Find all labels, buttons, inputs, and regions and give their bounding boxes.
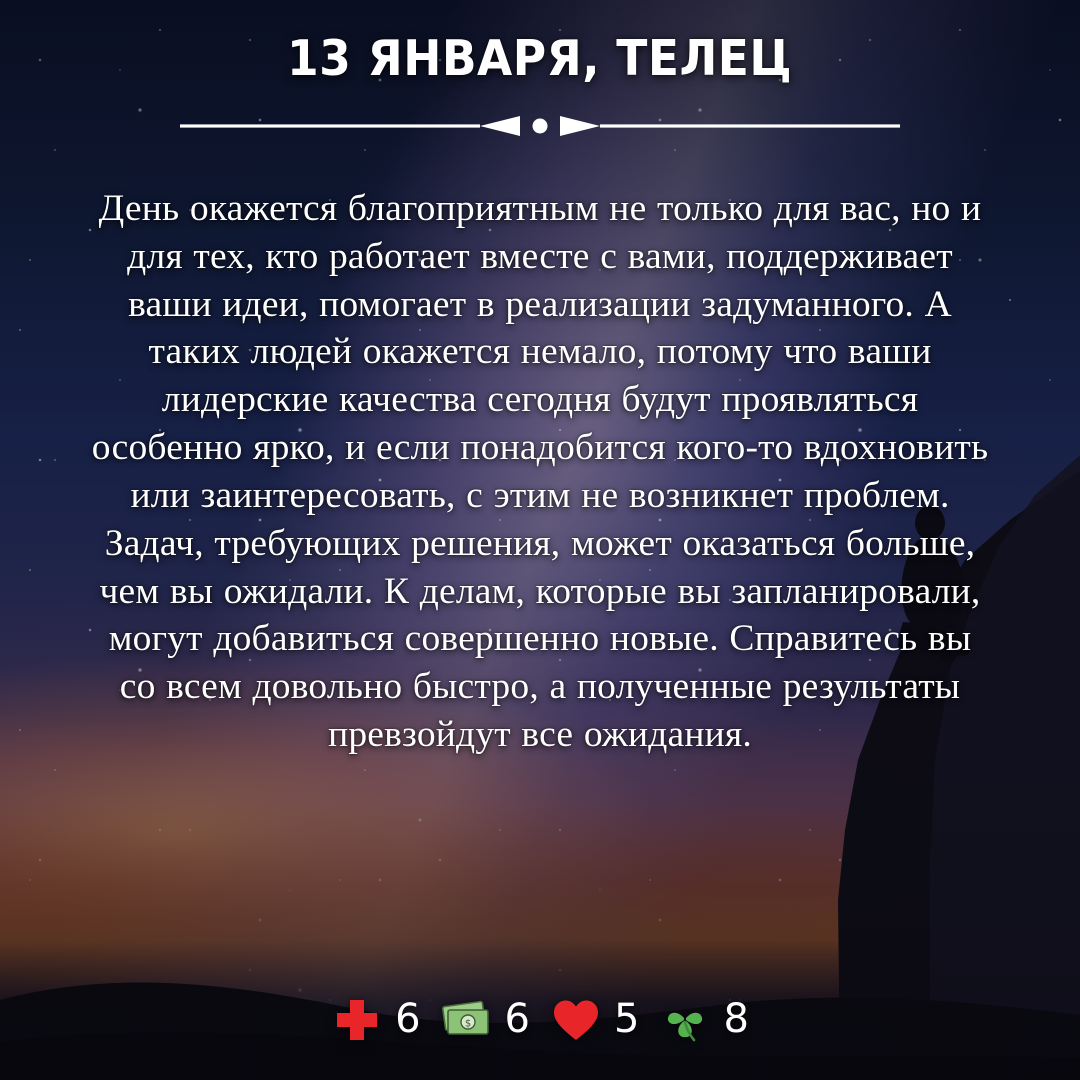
rating-health: 6 <box>331 994 420 1046</box>
ornamental-divider-icon <box>180 113 900 139</box>
four-leaf-clover-luck-icon <box>659 994 711 1046</box>
rating-health-value: 6 <box>395 999 420 1042</box>
rating-love: 5 <box>550 994 639 1046</box>
card-content: 13 ЯНВАРЯ, ТЕЛЕЦ День окажется благоприя… <box>0 0 1080 1080</box>
svg-text:$: $ <box>464 1019 470 1030</box>
rating-love-value: 5 <box>614 999 639 1042</box>
rating-luck-value: 8 <box>723 999 748 1042</box>
ratings-row: 6 $ 6 5 <box>0 994 1080 1046</box>
horoscope-text: День окажется благоприятным не только дл… <box>90 185 990 759</box>
rating-money: $ 6 <box>441 994 530 1046</box>
money-banknotes-icon: $ <box>441 994 493 1046</box>
page-title: 13 ЯНВАРЯ, ТЕЛЕЦ <box>287 30 792 87</box>
horoscope-card: 13 ЯНВАРЯ, ТЕЛЕЦ День окажется благоприя… <box>0 0 1080 1080</box>
red-cross-health-icon <box>331 994 383 1046</box>
rating-luck: 8 <box>659 994 748 1046</box>
rating-money-value: 6 <box>505 999 530 1042</box>
red-heart-love-icon <box>550 994 602 1046</box>
